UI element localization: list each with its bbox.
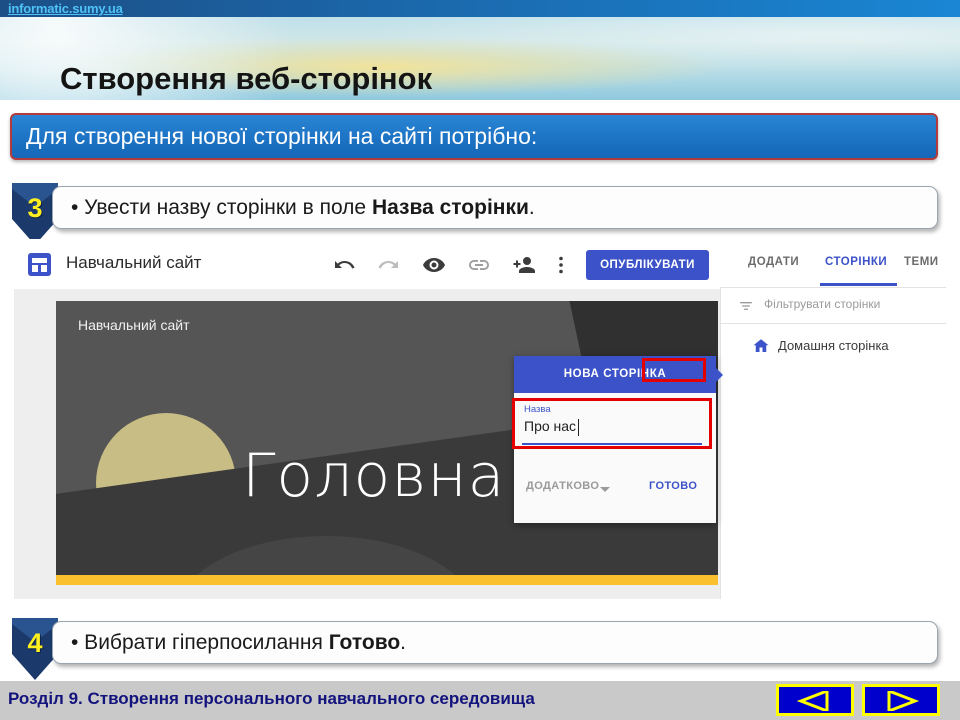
hero-headline: Головна	[242, 441, 505, 511]
filter-pages-placeholder: Фільтрувати сторінки	[764, 297, 880, 311]
active-tab-underline	[820, 283, 897, 286]
highlight-box-name-field	[512, 398, 712, 449]
page-title: Створення веб-сторінок	[60, 61, 432, 97]
chevron-down-icon[interactable]	[600, 487, 610, 492]
top-brand-bar: informatic.sumy.ua	[0, 0, 960, 17]
step-4-callout: • Вибрати гіперпосилання Готово.	[52, 621, 938, 664]
sites-site-name: Навчальний сайт	[66, 253, 201, 273]
footer-chapter-text: Розділ 9. Створення персонального навчал…	[8, 689, 535, 709]
eye-preview-icon[interactable]	[422, 253, 446, 277]
title-banner: Створення веб-сторінок	[0, 17, 960, 100]
advanced-dropdown[interactable]: ДОДАТКОВО	[526, 480, 599, 492]
instruction-banner-text: Для створення нової сторінки на сайті по…	[26, 123, 537, 150]
site-url-link[interactable]: informatic.sumy.ua	[8, 0, 123, 17]
step-3-text: • Увести назву сторінки в поле Назва сто…	[71, 196, 535, 220]
step-3-text-before: • Увести назву сторінки в поле	[71, 196, 372, 219]
prev-slide-button[interactable]	[776, 684, 854, 716]
filter-separator	[720, 323, 946, 324]
hero-accent-bar	[56, 575, 718, 585]
step-4-text-bold: Готово	[329, 631, 400, 654]
filter-icon	[738, 298, 754, 314]
page-list-item-home[interactable]: Домашня сторінка	[720, 331, 946, 363]
step-4-text-after: .	[400, 631, 406, 654]
next-slide-button[interactable]	[862, 684, 940, 716]
instruction-banner: Для створення нової сторінки на сайті по…	[10, 113, 938, 160]
dialog-pointer-icon	[716, 368, 723, 382]
publish-button[interactable]: ОПУБЛІКУВАТИ	[586, 250, 709, 280]
done-button[interactable]: ГОТОВО	[649, 480, 697, 492]
redo-icon	[377, 253, 401, 277]
highlight-box-done-button	[642, 358, 706, 382]
triangle-right-icon	[883, 691, 923, 711]
tab-temy[interactable]: ТЕМИ	[904, 256, 939, 268]
google-sites-logo-icon	[28, 253, 51, 276]
tab-storinky[interactable]: СТОРІНКИ	[825, 256, 887, 268]
filter-pages-row[interactable]: Фільтрувати сторінки	[720, 288, 946, 323]
page-list-item-home-label: Домашня сторінка	[778, 338, 889, 353]
step-4-text: • Вибрати гіперпосилання Готово.	[71, 631, 406, 655]
more-vert-icon[interactable]	[549, 253, 573, 277]
side-panel-tabs: ДОДАТИ СТОРІНКИ ТЕМИ	[720, 239, 946, 287]
triangle-left-icon	[797, 691, 837, 711]
publish-button-label: ОПУБЛІКУВАТИ	[586, 250, 709, 280]
link-icon	[467, 253, 491, 277]
step-4-text-before: • Вибрати гіперпосилання	[71, 631, 329, 654]
tab-dodaty[interactable]: ДОДАТИ	[748, 256, 799, 268]
google-sites-screenshot: Навчальний сайт ОПУБЛІКУВАТИ ДОДАТИ СТОР…	[14, 239, 946, 599]
undo-icon[interactable]	[332, 253, 356, 277]
step-3-text-after: .	[529, 196, 535, 219]
step-3-text-bold: Назва сторінки	[372, 196, 529, 219]
step-3-callout: • Увести назву сторінки в поле Назва сто…	[52, 186, 938, 229]
add-person-icon[interactable]	[512, 253, 536, 277]
hero-site-name: Навчальний сайт	[78, 317, 190, 333]
home-icon	[752, 337, 770, 355]
